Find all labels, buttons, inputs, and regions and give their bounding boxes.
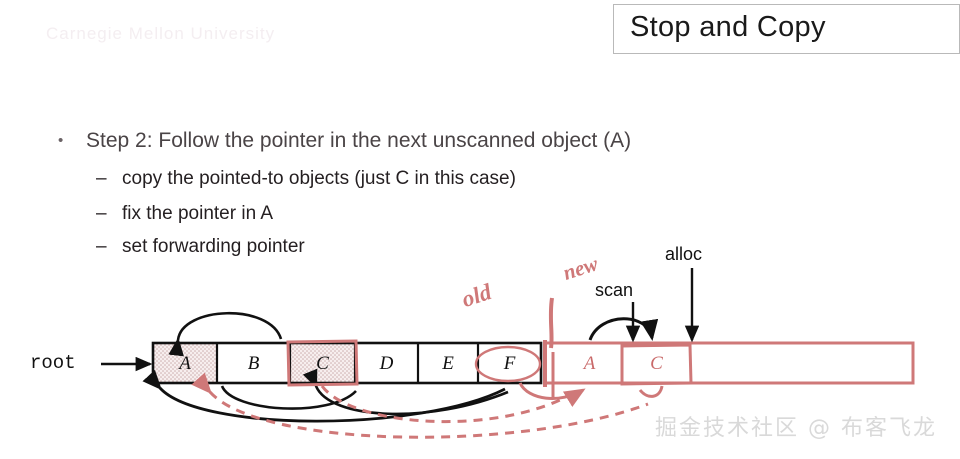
cell-label-c: C [290, 353, 355, 375]
scan-arc [590, 319, 652, 340]
cell-label-a: A [153, 353, 217, 375]
memory-diagram [0, 0, 960, 459]
cell-label-d: D [355, 353, 418, 375]
watermark: 掘金技术社区 @ 布客飞龙 [655, 410, 937, 442]
arc-c-to-a [178, 313, 281, 340]
to-space-cell-label-c: C [622, 353, 691, 375]
to-space-cell-label-a: A [557, 353, 622, 375]
forwarding-arc-dashed [322, 386, 560, 422]
new-c-hook [640, 386, 662, 396]
cell-label-b: B [217, 353, 290, 375]
new-space-boundary-mark [551, 298, 552, 348]
cell-label-e: E [418, 353, 478, 375]
forwarding-arc-dashed-long [210, 392, 648, 437]
slide-canvas: Carnegie Mellon University Stop and Copy… [0, 0, 960, 459]
cell-label-f: F [478, 353, 541, 375]
